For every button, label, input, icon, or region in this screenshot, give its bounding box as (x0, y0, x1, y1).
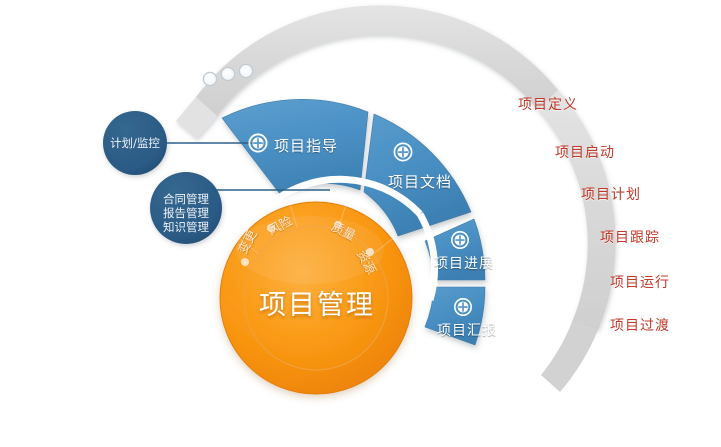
window-dot-3[interactable] (239, 64, 252, 77)
diagram-svg (0, 0, 721, 447)
blue-sector-document[interactable] (364, 114, 471, 236)
ring-icon-risk (267, 224, 275, 232)
outer-arc-tail (541, 322, 598, 392)
callout-plan-monitor[interactable] (103, 111, 167, 175)
diagram-canvas: 项目指导 项目文档 项目进展 项目汇报 计划/监控 合同管理 报告管理 知识管理… (0, 0, 721, 447)
window-dot-1[interactable] (203, 72, 216, 85)
callout-management[interactable] (150, 172, 222, 244)
center-orange-ring[interactable] (220, 202, 412, 394)
ring-icon-change (241, 258, 249, 266)
ring-icon-quality (334, 221, 342, 229)
window-dot-2[interactable] (221, 67, 234, 80)
ring-icon-resource (366, 248, 374, 256)
